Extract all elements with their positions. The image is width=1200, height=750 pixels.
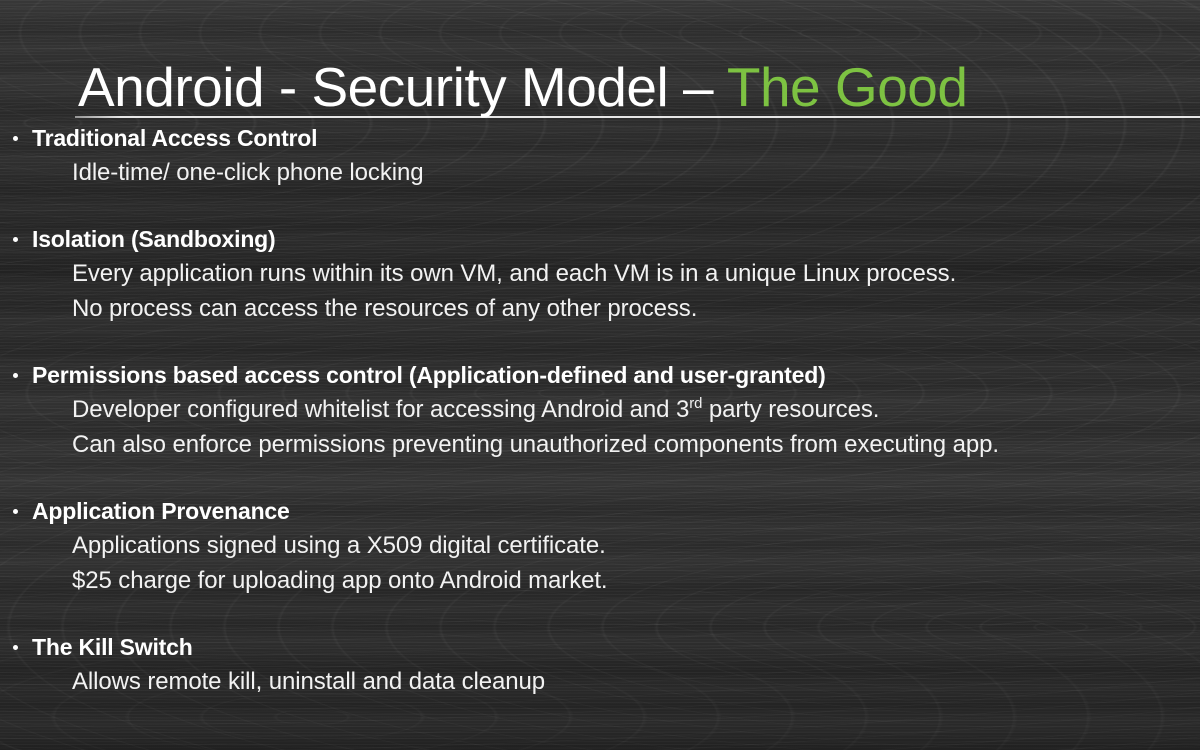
- bullet-subline-text: Idle-time/ one-click phone locking: [72, 159, 423, 186]
- bullet-group: Isolation (Sandboxing) Every application…: [0, 223, 1200, 326]
- bullet-subline-text: No process can access the resources of a…: [72, 295, 697, 322]
- ordinal-suffix: rd: [689, 396, 702, 412]
- bullet-subline-text: $25 charge for uploading app onto Androi…: [72, 567, 607, 594]
- bullet-group: The Kill Switch Allows remote kill, unin…: [0, 631, 1200, 699]
- bullet-subline-text: Can also enforce permissions preventing …: [72, 431, 999, 458]
- bullet-subline: Every application runs within its own VM…: [0, 256, 1200, 291]
- bullet-heading: The Kill Switch: [0, 631, 1200, 664]
- bullet-heading: Isolation (Sandboxing): [0, 223, 1200, 256]
- bullet-dot-icon: [13, 645, 18, 650]
- bullet-group: Permissions based access control (Applic…: [0, 359, 1200, 462]
- bullet-group: Application Provenance Applications sign…: [0, 495, 1200, 598]
- bullet-subline: No process can access the resources of a…: [0, 291, 1200, 326]
- bullet-group: Traditional Access Control Idle-time/ on…: [0, 122, 1200, 190]
- slide-title: Android - Security Model – The Good: [78, 58, 1200, 118]
- bullet-subline: Applications signed using a X509 digital…: [0, 528, 1200, 563]
- bullet-subline: Allows remote kill, uninstall and data c…: [0, 664, 1200, 699]
- slide-title-accent: The Good: [727, 56, 968, 118]
- bullet-subline-text: Developer configured whitelist for acces…: [72, 396, 689, 423]
- bullet-heading-label: Isolation (Sandboxing): [32, 226, 275, 252]
- bullet-subline-text: Applications signed using a X509 digital…: [72, 532, 606, 559]
- bullet-subline: Idle-time/ one-click phone locking: [0, 155, 1200, 190]
- bullet-subline: Can also enforce permissions preventing …: [0, 427, 1200, 462]
- bullet-subline-text: Every application runs within its own VM…: [72, 260, 956, 287]
- bullet-subline: Developer configured whitelist for acces…: [0, 392, 1200, 427]
- bullet-dot-icon: [13, 136, 18, 141]
- bullet-subline-text-tail: party resources.: [702, 396, 879, 423]
- bullet-heading-label: Application Provenance: [32, 498, 290, 524]
- bullet-dot-icon: [13, 373, 18, 378]
- bullet-heading: Application Provenance: [0, 495, 1200, 528]
- bullet-heading: Permissions based access control (Applic…: [0, 359, 1200, 392]
- bullet-heading-label: The Kill Switch: [32, 634, 193, 660]
- bullet-heading-label: Traditional Access Control: [32, 125, 317, 151]
- slide-title-main: Android - Security Model –: [78, 56, 727, 118]
- presentation-slide: Android - Security Model – The Good Andr…: [0, 0, 1200, 750]
- bullet-subline-text: Allows remote kill, uninstall and data c…: [72, 668, 545, 695]
- slide-body: Traditional Access Control Idle-time/ on…: [0, 122, 1200, 699]
- bullet-dot-icon: [13, 509, 18, 514]
- bullet-dot-icon: [13, 237, 18, 242]
- bullet-subline: $25 charge for uploading app onto Androi…: [0, 563, 1200, 598]
- bullet-heading-label: Permissions based access control (Applic…: [32, 362, 826, 388]
- bullet-heading: Traditional Access Control: [0, 122, 1200, 155]
